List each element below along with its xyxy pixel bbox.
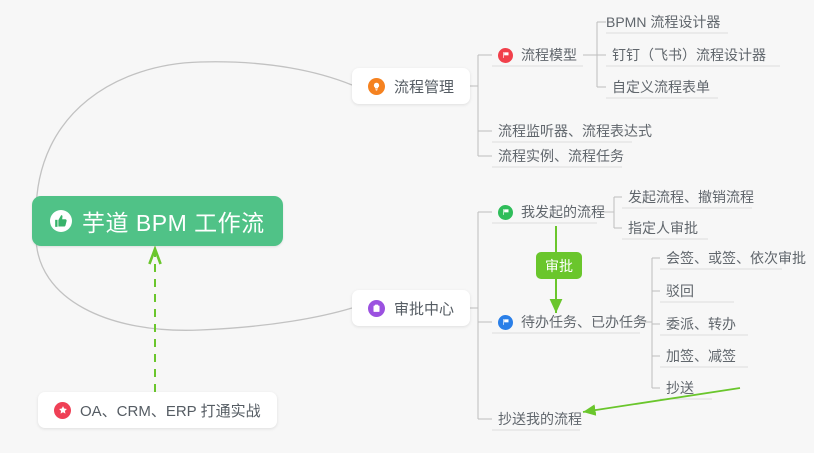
clipboard-icon	[368, 300, 385, 317]
node-delegate-transfer[interactable]: 委派、转办	[660, 311, 742, 337]
branch-label-process-management: 流程管理	[394, 76, 454, 97]
branch-node-approval-center[interactable]: 审批中心	[352, 290, 470, 326]
node-label-cc-to-me-processes: 抄送我的流程	[498, 409, 582, 429]
lightbulb-icon	[368, 78, 385, 95]
node-label-dingtalk-feishu-designer: 钉钉（飞书）流程设计器	[612, 45, 766, 65]
node-label-cc: 抄送	[666, 378, 694, 398]
thumbs-up-icon	[50, 210, 72, 232]
node-label-delegate-transfer: 委派、转办	[666, 314, 736, 334]
node-label-process-instance-task: 流程实例、流程任务	[498, 146, 624, 166]
node-label-assignee-approval: 指定人审批	[628, 218, 698, 238]
node-reject[interactable]: 驳回	[660, 278, 700, 304]
node-label-my-initiated-processes: 我发起的流程	[521, 202, 605, 222]
flag-icon	[498, 48, 513, 63]
root-node[interactable]: 芋道 BPM 工作流	[32, 196, 283, 246]
node-label-process-listener-expression: 流程监听器、流程表达式	[498, 121, 652, 141]
footer-node-integration-practice[interactable]: OA、CRM、ERP 打通实战	[38, 392, 277, 428]
flag-icon	[498, 315, 513, 330]
node-counter-or-sequential-sign[interactable]: 会签、或签、依次审批	[660, 245, 812, 271]
node-label-counter-or-sequential-sign: 会签、或签、依次审批	[666, 248, 806, 268]
node-start-cancel-process[interactable]: 发起流程、撤销流程	[622, 184, 760, 210]
node-todo-done-tasks[interactable]: 待办任务、已办任务	[492, 309, 653, 335]
node-label-process-model: 流程模型	[521, 45, 577, 65]
node-label-add-remove-sign: 加签、减签	[666, 346, 736, 366]
footer-node-label: OA、CRM、ERP 打通实战	[80, 400, 261, 421]
star-icon	[54, 402, 71, 419]
node-my-initiated-processes[interactable]: 我发起的流程	[492, 199, 611, 225]
approval-badge[interactable]: 审批	[536, 252, 582, 279]
connector-root-to-approval-center	[36, 236, 352, 330]
flag-icon	[498, 205, 513, 220]
connector-root-to-process-management	[36, 62, 352, 214]
branch-node-process-management[interactable]: 流程管理	[352, 68, 470, 104]
root-label: 芋道 BPM 工作流	[82, 204, 265, 238]
node-label-todo-done-tasks: 待办任务、已办任务	[521, 312, 647, 332]
node-dingtalk-feishu-designer[interactable]: 钉钉（飞书）流程设计器	[606, 42, 772, 68]
node-process-listener-expression[interactable]: 流程监听器、流程表达式	[492, 118, 658, 144]
node-label-bpmn-designer: BPMN 流程设计器	[606, 12, 720, 32]
node-bpmn-designer[interactable]: BPMN 流程设计器	[492, 9, 504, 35]
node-custom-process-form[interactable]: 自定义流程表单	[606, 74, 716, 100]
mindmap-canvas: 芋道 BPM 工作流 流程管理 流程模型 BPMN 流程设计器 钉钉（飞书）流程…	[0, 0, 814, 453]
node-label-custom-process-form: 自定义流程表单	[612, 77, 710, 97]
node-label-start-cancel-process: 发起流程、撤销流程	[628, 187, 754, 207]
node-cc-to-me-processes[interactable]: 抄送我的流程	[492, 406, 588, 432]
node-process-model[interactable]: 流程模型	[492, 42, 583, 68]
node-add-remove-sign[interactable]: 加签、减签	[660, 343, 742, 369]
node-process-instance-task[interactable]: 流程实例、流程任务	[492, 143, 630, 169]
node-cc[interactable]: 抄送	[660, 375, 700, 401]
node-label-reject: 驳回	[666, 281, 694, 301]
node-assignee-approval[interactable]: 指定人审批	[622, 215, 704, 241]
approval-badge-label: 审批	[545, 256, 573, 276]
branch-label-approval-center: 审批中心	[394, 298, 454, 319]
